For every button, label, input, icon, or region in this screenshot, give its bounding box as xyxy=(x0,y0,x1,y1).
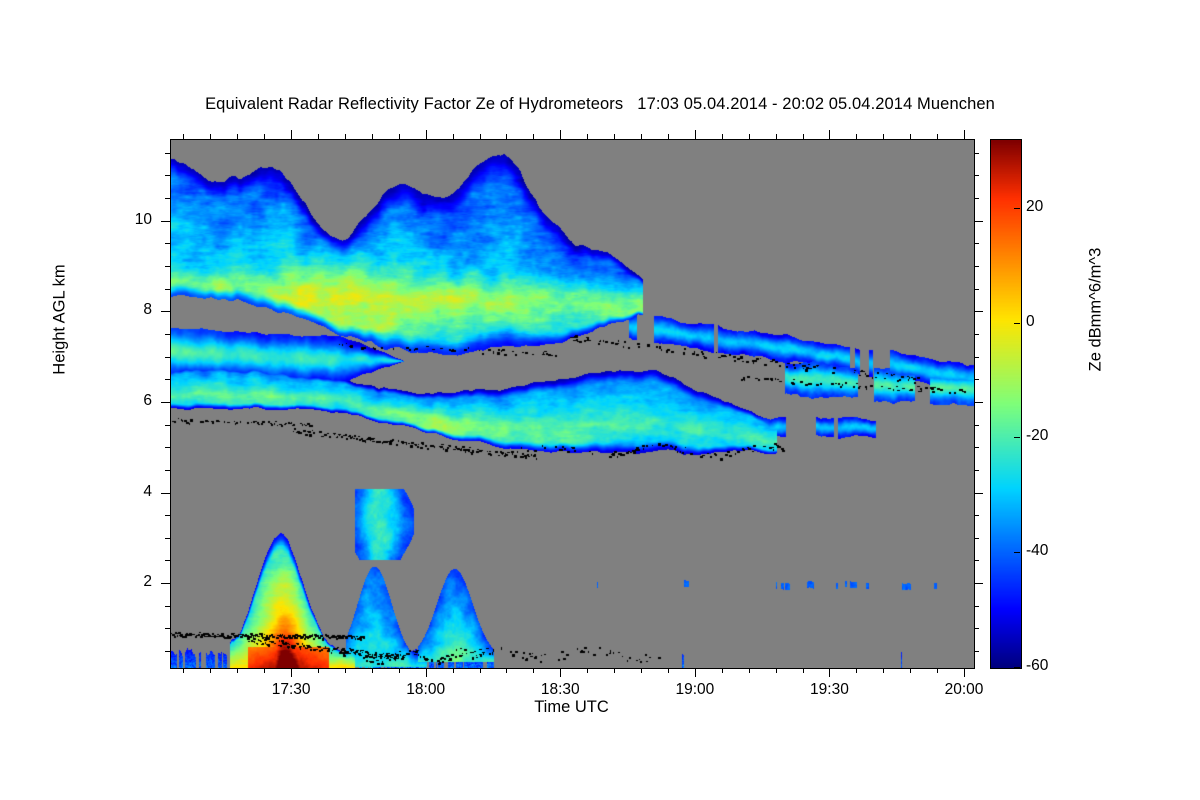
x-tick-minor xyxy=(372,134,373,139)
y-tick-minor xyxy=(165,334,170,335)
y-tick-minor xyxy=(165,560,170,561)
y-tick-minor xyxy=(165,538,170,539)
colorbar-title: Ze dBmm^6/m^3 xyxy=(1087,200,1106,420)
x-tick-major xyxy=(426,130,427,139)
x-tick-minor xyxy=(749,668,750,673)
colorbar-tick xyxy=(1014,552,1020,553)
y-tick-major xyxy=(974,311,983,312)
x-tick-major xyxy=(695,668,696,677)
x-tick-minor xyxy=(183,134,184,139)
y-tick-major xyxy=(974,493,983,494)
x-tick-minor xyxy=(668,668,669,673)
y-tick-label: 2 xyxy=(92,573,152,591)
y-tick-minor xyxy=(165,357,170,358)
x-tick-minor xyxy=(910,134,911,139)
x-tick-minor xyxy=(210,134,211,139)
y-tick-minor xyxy=(974,153,979,154)
x-tick-major xyxy=(291,130,292,139)
x-tick-minor xyxy=(910,668,911,673)
x-tick-minor xyxy=(937,668,938,673)
x-tick-minor xyxy=(345,668,346,673)
x-tick-label: 17:30 xyxy=(246,681,336,699)
x-tick-minor xyxy=(803,134,804,139)
y-tick-label: 6 xyxy=(92,392,152,410)
x-tick-major xyxy=(829,668,830,677)
y-tick-minor xyxy=(974,243,979,244)
x-tick-minor xyxy=(237,134,238,139)
y-tick-label: 8 xyxy=(92,301,152,319)
x-tick-minor xyxy=(856,668,857,673)
y-tick-minor xyxy=(974,651,979,652)
x-tick-label: 18:00 xyxy=(381,681,471,699)
colorbar-tick-label: 0 xyxy=(1026,313,1035,331)
y-tick-minor xyxy=(165,470,170,471)
x-tick-minor xyxy=(453,668,454,673)
x-tick-minor xyxy=(399,134,400,139)
y-tick-major xyxy=(161,493,170,494)
x-tick-minor xyxy=(506,134,507,139)
x-tick-minor xyxy=(641,668,642,673)
x-tick-minor xyxy=(614,668,615,673)
y-tick-minor xyxy=(974,198,979,199)
x-tick-minor xyxy=(856,134,857,139)
x-tick-minor xyxy=(668,134,669,139)
y-tick-minor xyxy=(974,470,979,471)
y-tick-major xyxy=(161,311,170,312)
y-tick-minor xyxy=(165,153,170,154)
x-tick-minor xyxy=(237,668,238,673)
figure-root: Equivalent Radar Reflectivity Factor Ze … xyxy=(0,0,1200,800)
x-tick-minor xyxy=(776,668,777,673)
x-tick-label: 20:00 xyxy=(919,681,1009,699)
x-tick-minor xyxy=(533,668,534,673)
x-tick-minor xyxy=(480,668,481,673)
colorbar-tick-label: -60 xyxy=(1026,657,1048,675)
x-tick-minor xyxy=(453,134,454,139)
x-tick-minor xyxy=(345,134,346,139)
x-tick-minor xyxy=(614,134,615,139)
x-tick-minor xyxy=(183,668,184,673)
y-tick-minor xyxy=(974,425,979,426)
heatmap-canvas xyxy=(171,140,974,668)
y-tick-minor xyxy=(974,447,979,448)
colorbar-tick-label: 20 xyxy=(1026,198,1043,216)
y-tick-minor xyxy=(974,175,979,176)
x-tick-minor xyxy=(480,134,481,139)
x-tick-minor xyxy=(641,134,642,139)
y-tick-minor xyxy=(165,289,170,290)
radar-heatmap xyxy=(171,140,974,668)
y-tick-minor xyxy=(974,379,979,380)
x-tick-minor xyxy=(803,668,804,673)
x-tick-minor xyxy=(722,134,723,139)
plot-frame xyxy=(170,139,975,669)
y-tick-minor xyxy=(974,289,979,290)
colorbar-tick xyxy=(1014,323,1020,324)
y-tick-minor xyxy=(165,243,170,244)
x-tick-minor xyxy=(587,134,588,139)
y-tick-minor xyxy=(165,175,170,176)
x-tick-major xyxy=(964,130,965,139)
x-tick-minor xyxy=(883,134,884,139)
y-axis-title: Height AGL km xyxy=(51,210,70,430)
chart-title: Equivalent Radar Reflectivity Factor Ze … xyxy=(0,95,1200,114)
y-tick-minor xyxy=(974,334,979,335)
y-tick-minor xyxy=(974,560,979,561)
y-tick-minor xyxy=(974,515,979,516)
x-tick-minor xyxy=(506,668,507,673)
x-tick-minor xyxy=(722,668,723,673)
y-tick-major xyxy=(974,402,983,403)
y-tick-minor xyxy=(974,538,979,539)
x-tick-major xyxy=(829,130,830,139)
y-tick-minor xyxy=(165,379,170,380)
x-tick-minor xyxy=(399,668,400,673)
y-tick-minor xyxy=(974,628,979,629)
colorbar-gradient xyxy=(991,140,1021,668)
y-tick-minor xyxy=(165,651,170,652)
x-tick-minor xyxy=(883,668,884,673)
x-tick-minor xyxy=(318,134,319,139)
y-tick-minor xyxy=(165,425,170,426)
x-tick-major xyxy=(560,130,561,139)
colorbar-tick xyxy=(1014,208,1020,209)
colorbar-tick-label: -40 xyxy=(1026,542,1048,560)
colorbar-tick xyxy=(1014,437,1020,438)
x-tick-label: 18:30 xyxy=(515,681,605,699)
colorbar-frame xyxy=(990,139,1022,669)
y-tick-major xyxy=(974,583,983,584)
y-tick-major xyxy=(161,402,170,403)
x-tick-major xyxy=(426,668,427,677)
x-axis-title: Time UTC xyxy=(170,698,973,717)
y-tick-major xyxy=(974,221,983,222)
x-tick-major xyxy=(291,668,292,677)
x-tick-minor xyxy=(776,134,777,139)
x-tick-minor xyxy=(749,134,750,139)
y-tick-minor xyxy=(165,606,170,607)
y-tick-major xyxy=(161,221,170,222)
y-tick-minor xyxy=(974,606,979,607)
y-tick-label: 4 xyxy=(92,483,152,501)
x-tick-minor xyxy=(937,134,938,139)
y-tick-minor xyxy=(165,515,170,516)
y-tick-minor xyxy=(974,357,979,358)
x-tick-major xyxy=(695,130,696,139)
y-tick-major xyxy=(161,583,170,584)
colorbar-tick xyxy=(1014,667,1020,668)
y-tick-minor xyxy=(165,447,170,448)
x-tick-major xyxy=(560,668,561,677)
x-tick-minor xyxy=(533,134,534,139)
x-tick-minor xyxy=(210,668,211,673)
x-tick-minor xyxy=(372,668,373,673)
y-tick-minor xyxy=(165,266,170,267)
x-tick-minor xyxy=(264,668,265,673)
y-tick-minor xyxy=(974,266,979,267)
colorbar-tick-label: -20 xyxy=(1026,427,1048,445)
y-tick-minor xyxy=(165,198,170,199)
y-tick-label: 10 xyxy=(92,211,152,229)
x-tick-label: 19:00 xyxy=(650,681,740,699)
x-tick-minor xyxy=(318,668,319,673)
x-tick-minor xyxy=(264,134,265,139)
x-tick-minor xyxy=(587,668,588,673)
x-tick-major xyxy=(964,668,965,677)
y-tick-minor xyxy=(165,628,170,629)
x-tick-label: 19:30 xyxy=(784,681,874,699)
